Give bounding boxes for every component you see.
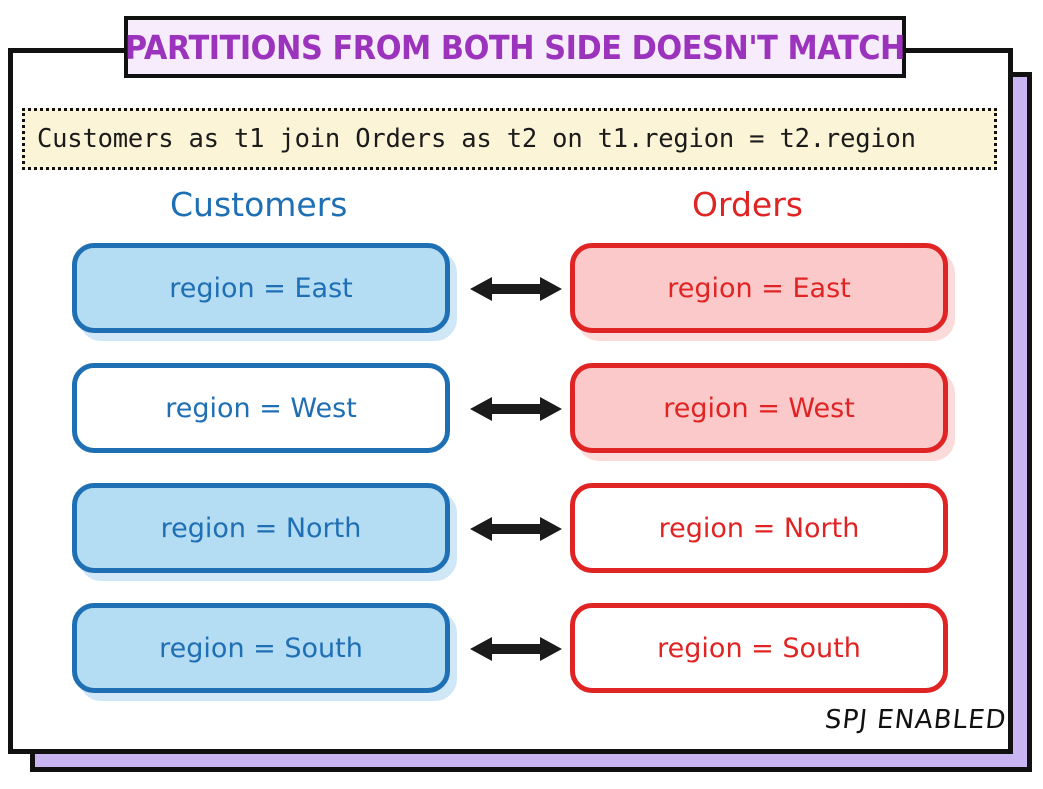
customers-partition-box[interactable]: region = West: [72, 363, 450, 453]
partition-label: region = North: [659, 513, 860, 544]
partition-row: region = South region = South: [0, 603, 1043, 699]
column-heading-orders: Orders: [692, 185, 803, 224]
orders-partition-box[interactable]: region = East: [570, 243, 948, 333]
double-headed-arrow-icon: [468, 629, 564, 669]
customers-partition-box[interactable]: region = East: [72, 243, 450, 333]
customers-partition-box[interactable]: region = South: [72, 603, 450, 693]
page-title: PARTITIONS FROM BOTH SIDE DOESN'T MATCH: [125, 28, 905, 67]
double-headed-arrow-icon: [468, 509, 564, 549]
partition-row: region = North region = North: [0, 483, 1043, 579]
partition-label: region = West: [165, 393, 357, 424]
partition-label: region = North: [161, 513, 362, 544]
slide-canvas: PARTITIONS FROM BOTH SIDE DOESN'T MATCH …: [0, 0, 1043, 789]
partition-label: region = East: [667, 273, 850, 304]
double-headed-arrow-icon: [468, 269, 564, 309]
partition-label: region = South: [159, 633, 363, 664]
partition-label: region = East: [169, 273, 352, 304]
spj-enabled-note: SPJ ENABLED: [824, 705, 1009, 735]
double-headed-arrow-icon: [468, 389, 564, 429]
title-badge: PARTITIONS FROM BOTH SIDE DOESN'T MATCH: [124, 16, 906, 78]
customers-partition-box[interactable]: region = North: [72, 483, 450, 573]
column-heading-customers: Customers: [170, 185, 348, 224]
orders-partition-box[interactable]: region = North: [570, 483, 948, 573]
partition-row: region = West region = West: [0, 363, 1043, 459]
orders-partition-box[interactable]: region = West: [570, 363, 948, 453]
sql-query-text: Customers as t1 join Orders as t2 on t1.…: [25, 124, 916, 154]
partition-label: region = South: [657, 633, 861, 664]
orders-partition-box[interactable]: region = South: [570, 603, 948, 693]
sql-query-box: Customers as t1 join Orders as t2 on t1.…: [22, 108, 997, 170]
partition-row: region = East region = East: [0, 243, 1043, 339]
partition-label: region = West: [663, 393, 855, 424]
